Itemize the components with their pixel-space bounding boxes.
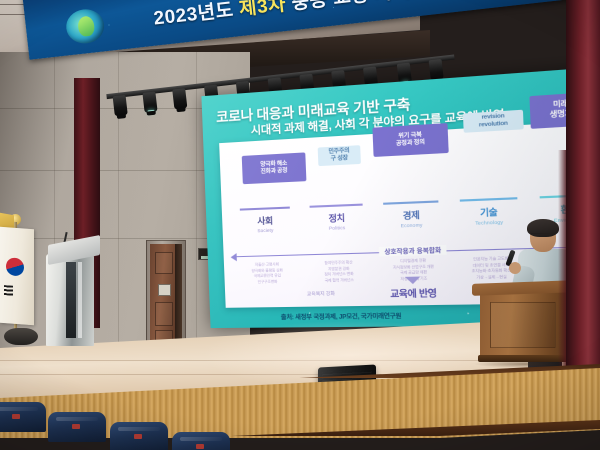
list-item [48, 412, 106, 442]
column-label-en: Society [231, 227, 301, 235]
side-door[interactable] [146, 240, 186, 344]
column-label-ko: 사회 [230, 213, 301, 228]
korean-national-flag-taegeukgi [0, 227, 34, 325]
interaction-label: 상호작용과 융복합화 [379, 245, 447, 256]
slide-column-society: 사회 Society [230, 206, 302, 241]
slide-column-politics: 정치 Politics [300, 203, 374, 239]
conclusion-left-label: 교육복지 강화 [307, 291, 335, 298]
slide-chip-3: revision revolution [463, 110, 524, 133]
door-window [158, 284, 171, 296]
slide-note-0: 저출산·고령사회 양극화와 불평등 심화 국제교류인력 유입 인구구조변화 [232, 262, 303, 286]
list-item [0, 402, 46, 432]
flag-base [4, 328, 38, 345]
stage-curtain-right [566, 0, 600, 400]
column-label-ko: 경제 [373, 207, 450, 223]
slide-chip-1: 민주주의 구 성장 [318, 145, 361, 166]
slide-note-1: 참여민주주의 확산 지방분권 강화 정치 거버넌스 변화 국제 협력 거버넌스 [302, 260, 376, 285]
slide-chip-1-label: 민주주의 구 성장 [328, 148, 350, 164]
list-item [172, 432, 230, 450]
column-label-ko: 정치 [300, 210, 374, 225]
presenter-hand [509, 262, 521, 274]
white-podium-lectern[interactable] [46, 240, 100, 346]
slide-chip-2: 위기 극복 공정과 정의 [372, 123, 448, 157]
slide-chip-3-label: revision revolution [478, 113, 508, 130]
slide-chip-0-label: 양극화 해소 진화과 공정 [260, 161, 287, 177]
list-item [110, 422, 168, 450]
slide-chip-0: 양극화 해소 진화과 공정 [242, 152, 307, 184]
slide-chip-2-label: 위기 극복 공정과 정의 [396, 132, 425, 148]
down-arrow-icon [405, 277, 421, 285]
slide-column-economy: 경제 Economy [373, 200, 450, 237]
auditorium-scene: 2023년도 제3차 중등 교장 자격연수 기간 | 2023. 6. 26.(… [0, 0, 600, 450]
glasses-icon [531, 233, 555, 238]
column-label-ko: 기술 [449, 204, 529, 220]
